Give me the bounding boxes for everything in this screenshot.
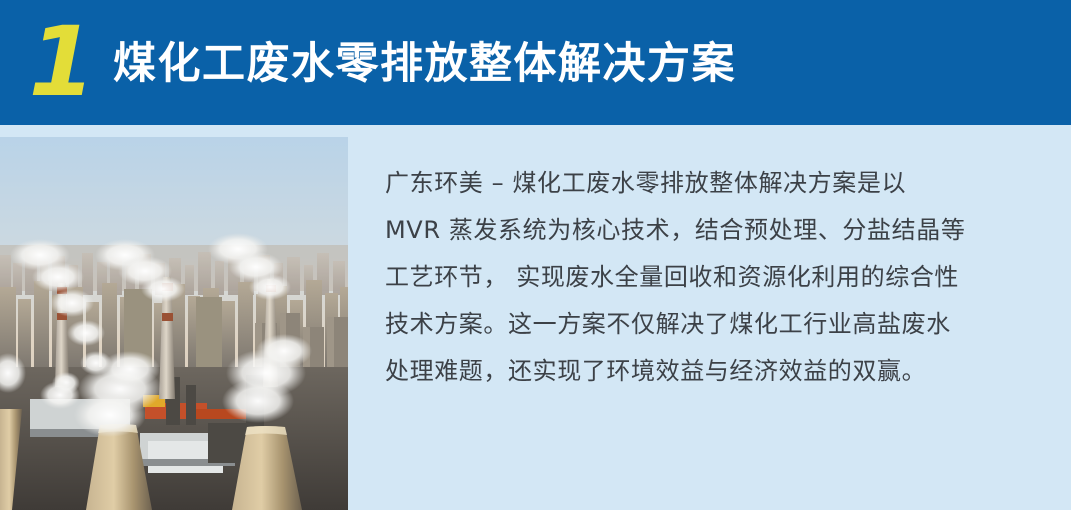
paragraph-line: MVR 蒸发系统为核心技术，结合预处理、分盐结晶等 <box>385 207 1005 254</box>
description-paragraph: 广东环美 – 煤化工废水零排放整体解决方案是以 MVR 蒸发系统为核心技术，结合… <box>385 160 1005 395</box>
photo-illustration <box>0 137 348 510</box>
paragraph-line: 工艺环节， 实现废水全量回收和资源化利用的综合性 <box>385 254 1005 301</box>
content-area: 广东环美 – 煤化工废水零排放整体解决方案是以 MVR 蒸发系统为核心技术，结合… <box>0 125 1071 510</box>
slide-page: 1 煤化工废水零排放整体解决方案 <box>0 0 1071 510</box>
paragraph-line: 广东环美 – 煤化工废水零排放整体解决方案是以 <box>385 160 1005 207</box>
paragraph-line: 处理难题，还实现了环境效益与经济效益的双赢。 <box>385 348 1005 395</box>
paragraph-line: 技术方案。这一方案不仅解决了煤化工行业高盐废水 <box>385 301 1005 348</box>
header-bar: 1 煤化工废水零排放整体解决方案 <box>0 0 1071 125</box>
page-title: 煤化工废水零排放整体解决方案 <box>113 36 736 92</box>
industrial-plant-photo <box>0 137 348 510</box>
section-number-badge: 1 <box>18 16 104 108</box>
